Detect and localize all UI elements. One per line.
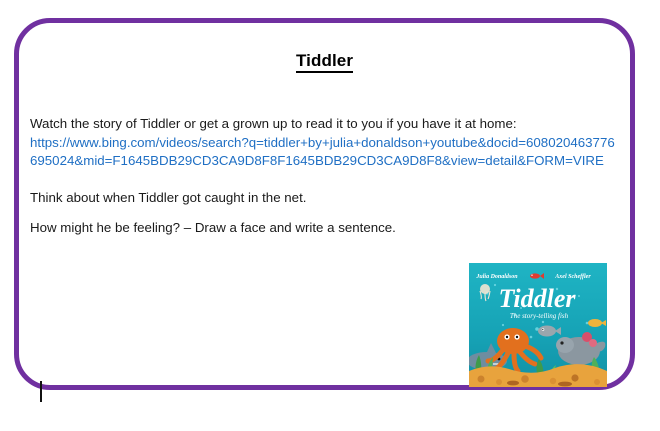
worksheet-body: Watch the story of Tiddler or get a grow… [30,115,620,238]
activity-card: Tiddler Watch the story of Tiddler or ge… [14,18,635,390]
svg-text:Axel Scheffler: Axel Scheffler [554,274,591,280]
cover-title-text: Tiddler [498,284,576,313]
page-title: Tiddler [19,51,630,71]
video-link[interactable]: https://www.bing.com/videos/search?q=tid… [30,134,620,171]
page-title-text: Tiddler [296,51,353,73]
svg-text:Julia Donaldson: Julia Donaldson [475,274,518,280]
text-cursor[interactable] [40,381,42,402]
intro-paragraph: Watch the story of Tiddler or get a grow… [30,115,620,134]
prompt-paragraph: Think about when Tiddler got caught in t… [30,189,620,208]
paragraph-spacer [30,171,620,189]
book-cover-image: Julia Donaldson Axel Scheffler Tiddler T… [469,263,607,387]
paragraph-spacer-2 [30,207,620,219]
cover-subtitle-text: The story-telling fish [510,312,569,320]
question-paragraph: How might he be feeling? – Draw a face a… [30,219,620,238]
